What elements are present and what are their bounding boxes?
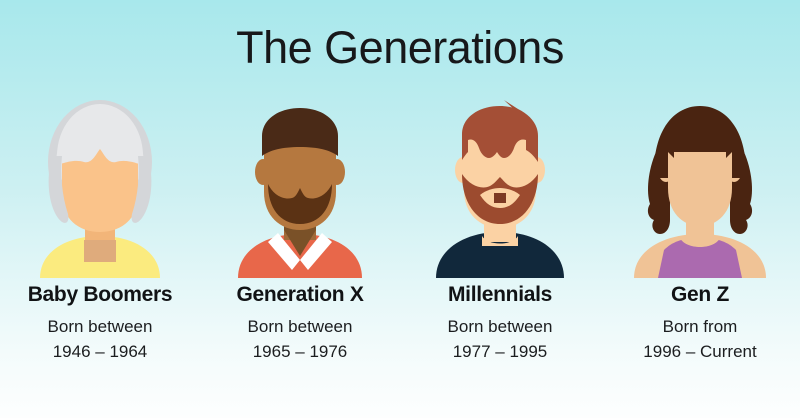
generation-card-baby-boomers[interactable]: Baby Boomers Born between 1946 – 1964 [0,100,200,418]
red-beard-man-avatar-icon [400,100,600,278]
generation-card-millennials[interactable]: Millennials Born between 1977 – 1995 [400,100,600,418]
born-range: 1946 – 1964 [0,339,200,364]
generation-name: Millennials [400,283,600,307]
generations-infographic: The Generations [0,0,800,418]
generation-labels: Millennials Born between 1977 – 1995 [400,283,600,364]
born-label: Born from [600,314,800,339]
generation-name: Baby Boomers [0,283,200,307]
born-label: Born between [200,314,400,339]
generation-labels: Gen Z Born from 1996 – Current [600,283,800,364]
born-range: 1977 – 1995 [400,339,600,364]
generation-card-generation-x[interactable]: Generation X Born between 1965 – 1976 [200,100,400,418]
generation-labels: Baby Boomers Born between 1946 – 1964 [0,283,200,364]
page-title: The Generations [0,22,800,74]
born-label: Born between [400,314,600,339]
generation-card-list: Baby Boomers Born between 1946 – 1964 [0,100,800,418]
born-range: 1965 – 1976 [200,339,400,364]
born-range: 1996 – Current [600,339,800,364]
young-woman-avatar-icon [600,100,800,278]
bearded-man-avatar-icon [200,100,400,278]
generation-name: Generation X [200,283,400,307]
elderly-woman-avatar-icon [0,100,200,278]
generation-card-gen-z[interactable]: Gen Z Born from 1996 – Current [600,100,800,418]
generation-labels: Generation X Born between 1965 – 1976 [200,283,400,364]
born-label: Born between [0,314,200,339]
generation-name: Gen Z [600,283,800,307]
